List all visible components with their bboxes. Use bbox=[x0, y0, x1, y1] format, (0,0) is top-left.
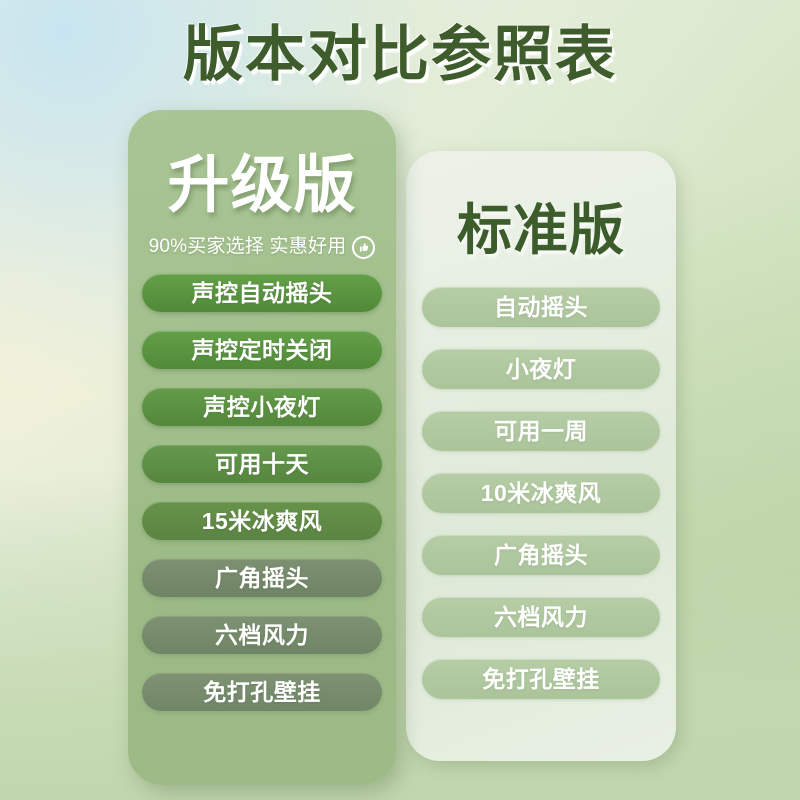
feature-pill[interactable]: 声控自动摇头 bbox=[142, 274, 382, 312]
plan-card-standard[interactable]: 标准版 自动摇头 小夜灯 可用一周 10米冰爽风 广角摇头 六档风力 免打孔壁挂 bbox=[406, 151, 676, 761]
feature-label: 六档风力 bbox=[494, 604, 588, 630]
feature-pill[interactable]: 免打孔壁挂 bbox=[422, 659, 660, 699]
feature-pill[interactable]: 小夜灯 bbox=[422, 349, 660, 389]
poster-background: 版本对比参照表 标准版 自动摇头 小夜灯 可用一周 10米冰爽风 广角摇头 六档… bbox=[0, 0, 800, 800]
feature-list-standard: 自动摇头 小夜灯 可用一周 10米冰爽风 广角摇头 六档风力 免打孔壁挂 bbox=[422, 287, 660, 721]
feature-label: 广角摇头 bbox=[494, 542, 588, 568]
feature-pill[interactable]: 15米冰爽风 bbox=[142, 502, 382, 540]
plan-subtitle: 90%买家选择 实惠好用 bbox=[149, 234, 347, 260]
page-title: 版本对比参照表 bbox=[0, 16, 800, 94]
feature-label: 六档风力 bbox=[215, 622, 309, 648]
feature-label: 15米冰爽风 bbox=[202, 508, 323, 534]
feature-pill[interactable]: 声控定时关闭 bbox=[142, 331, 382, 369]
feature-label: 免打孔壁挂 bbox=[482, 666, 600, 692]
feature-pill[interactable]: 10米冰爽风 bbox=[422, 473, 660, 513]
feature-label: 免打孔壁挂 bbox=[203, 679, 321, 705]
feature-pill[interactable]: 六档风力 bbox=[422, 597, 660, 637]
feature-label: 声控小夜灯 bbox=[203, 394, 321, 420]
feature-pill[interactable]: 广角摇头 bbox=[142, 559, 382, 597]
feature-label: 广角摇头 bbox=[215, 565, 309, 591]
feature-label: 可用十天 bbox=[215, 451, 309, 477]
feature-pill[interactable]: 六档风力 bbox=[142, 616, 382, 654]
plan-title-upgrade: 升级版 bbox=[142, 146, 382, 226]
feature-pill[interactable]: 免打孔壁挂 bbox=[142, 673, 382, 711]
feature-pill[interactable]: 可用十天 bbox=[142, 445, 382, 483]
feature-pill[interactable]: 可用一周 bbox=[422, 411, 660, 451]
feature-pill[interactable]: 自动摇头 bbox=[422, 287, 660, 327]
feature-label: 声控自动摇头 bbox=[192, 280, 333, 306]
feature-pill[interactable]: 广角摇头 bbox=[422, 535, 660, 575]
feature-pill[interactable]: 声控小夜灯 bbox=[142, 388, 382, 426]
plan-title-standard: 标准版 bbox=[422, 193, 660, 267]
feature-label: 声控定时关闭 bbox=[192, 337, 333, 363]
feature-label: 10米冰爽风 bbox=[481, 480, 602, 506]
plan-card-upgrade[interactable]: 升级版 90%买家选择 实惠好用 声控自动摇头 声控定时关闭 声控小夜灯 可用十… bbox=[128, 110, 396, 785]
thumbs-up-icon bbox=[352, 236, 375, 259]
feature-label: 自动摇头 bbox=[494, 294, 588, 320]
feature-label: 小夜灯 bbox=[506, 356, 577, 382]
feature-label: 可用一周 bbox=[494, 418, 588, 444]
feature-list-upgrade: 声控自动摇头 声控定时关闭 声控小夜灯 可用十天 15米冰爽风 广角摇头 六档风… bbox=[142, 274, 382, 730]
plan-subtitle-row: 90%买家选择 实惠好用 bbox=[142, 234, 382, 260]
